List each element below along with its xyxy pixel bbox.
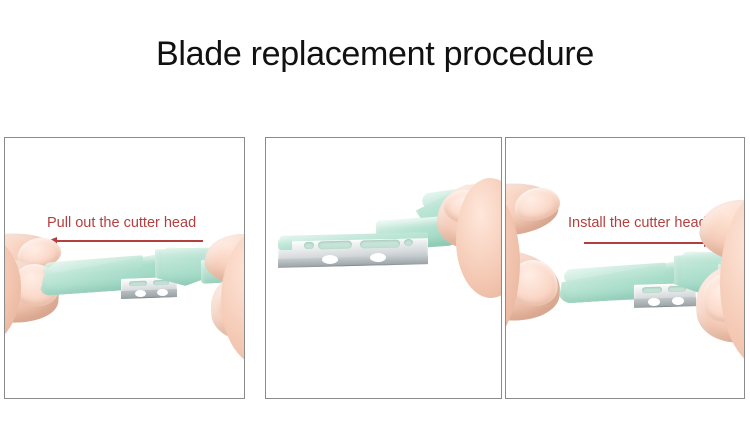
panel-pull-out-step: Pull out the cutter head — [4, 137, 245, 399]
page-title: Blade replacement procedure — [0, 36, 750, 73]
panel-3-caption: Install the cutter head — [568, 216, 707, 231]
panel-install-step: Install the cutter head — [505, 137, 745, 399]
panel-2-image — [266, 138, 501, 398]
panel-3-image: Install the cutter head — [506, 138, 744, 398]
panel-1-caption: Pull out the cutter head — [47, 216, 196, 231]
panel-1-image: Pull out the cutter head — [5, 138, 244, 398]
arrow-left-icon — [47, 236, 203, 246]
arrow-right-icon — [584, 238, 714, 248]
procedure-panel-row: Pull out the cutter head — [4, 137, 745, 401]
panel-detached-blade-step — [265, 137, 502, 399]
